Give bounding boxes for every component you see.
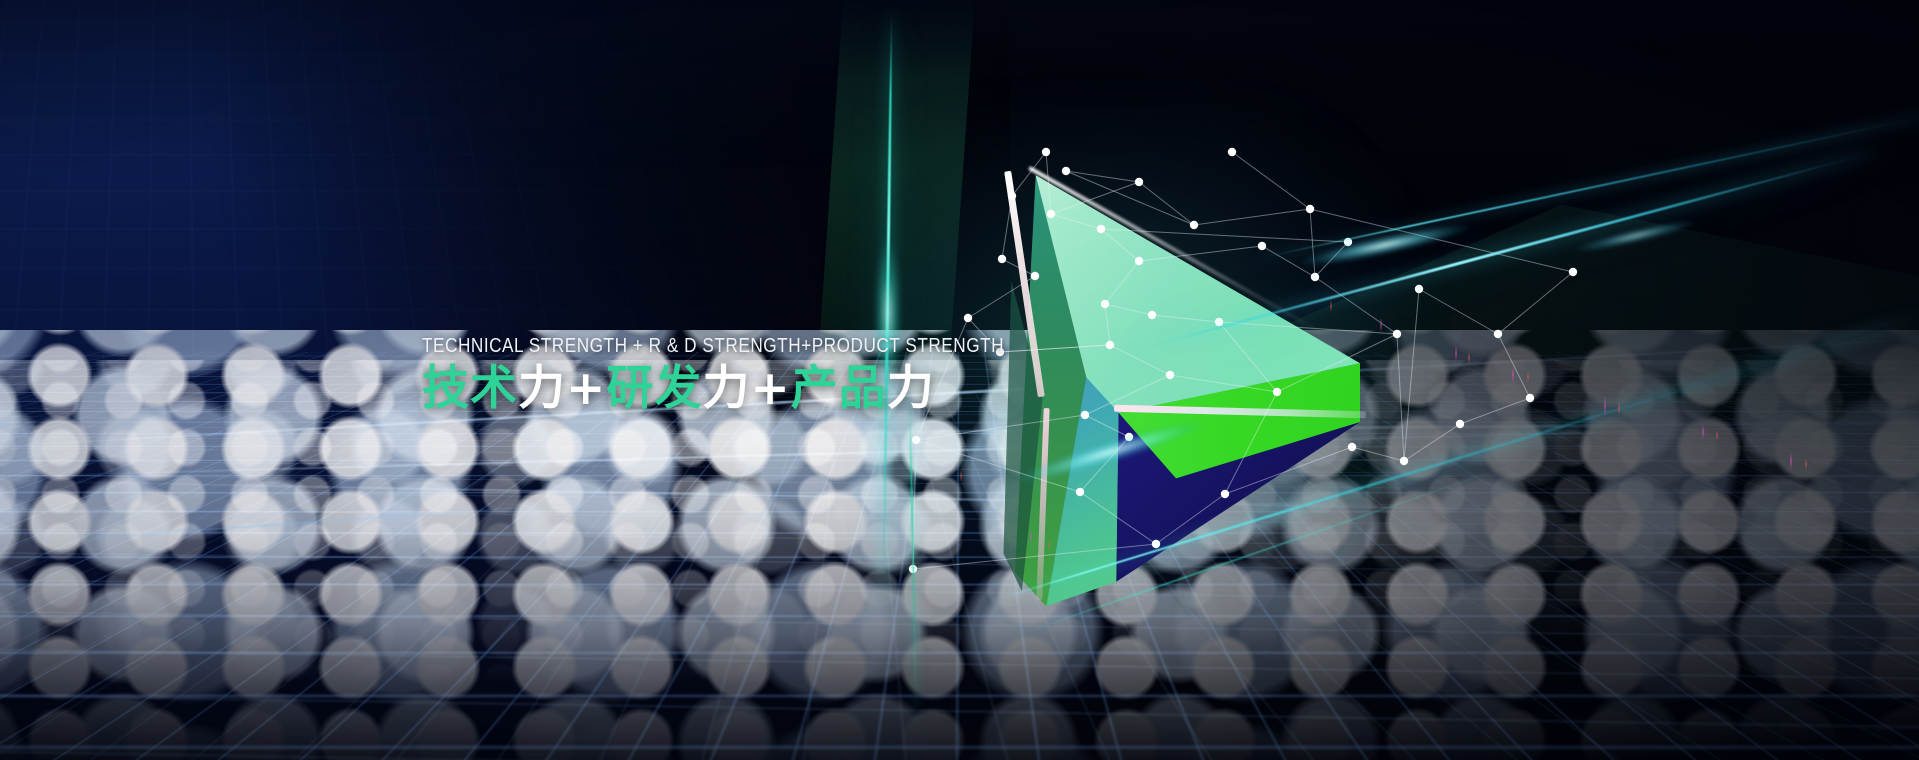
hero-banner: TECHNICAL STRENGTH + R & D STRENGTH+PROD… bbox=[0, 0, 1919, 760]
network-node bbox=[1569, 268, 1577, 276]
headline-segment-5: + bbox=[750, 361, 790, 416]
network-node bbox=[1042, 148, 1050, 156]
network-node bbox=[1135, 257, 1143, 265]
network-node bbox=[1047, 210, 1055, 218]
network-node bbox=[1273, 388, 1281, 396]
headline-segment-7: 力 bbox=[887, 361, 935, 416]
network-node bbox=[1306, 205, 1314, 213]
network-node bbox=[1031, 272, 1039, 280]
chromatic-tick bbox=[1790, 452, 1792, 470]
network-node bbox=[964, 314, 972, 322]
chromatic-tick bbox=[1716, 430, 1718, 441]
network-node bbox=[1135, 178, 1143, 186]
chromatic-tick bbox=[960, 470, 962, 482]
network-node bbox=[998, 255, 1006, 263]
network-node bbox=[912, 436, 920, 444]
network-node bbox=[1348, 443, 1356, 451]
network-node bbox=[1415, 285, 1423, 293]
chromatic-tick bbox=[1380, 318, 1382, 332]
chromatic-tick bbox=[1468, 352, 1470, 364]
network-node bbox=[1148, 311, 1156, 319]
headline-segment-2: + bbox=[566, 361, 606, 416]
chromatic-tick bbox=[1330, 300, 1332, 312]
chromatic-tick bbox=[1048, 540, 1050, 550]
chromatic-tick bbox=[1604, 396, 1606, 416]
network-node bbox=[1062, 167, 1070, 175]
network-node bbox=[1311, 273, 1319, 281]
chromatic-tick bbox=[1805, 458, 1807, 470]
network-node bbox=[1393, 330, 1401, 338]
headline-segment-0: 技术 bbox=[422, 361, 518, 416]
network-node bbox=[1456, 420, 1464, 428]
network-node bbox=[1101, 300, 1109, 308]
chromatic-tick bbox=[1527, 372, 1529, 382]
network-node bbox=[1400, 457, 1408, 465]
chromatic-tick bbox=[1702, 424, 1704, 440]
page-title: 技术力+研发力+产品力 bbox=[422, 365, 1122, 414]
network-node bbox=[1152, 540, 1160, 548]
chromatic-tick bbox=[1618, 402, 1620, 415]
hero-copy: TECHNICAL STRENGTH + R & D STRENGTH+PROD… bbox=[422, 336, 1122, 414]
network-node bbox=[1190, 221, 1198, 229]
network-node bbox=[1166, 371, 1174, 379]
eyebrow-text: TECHNICAL STRENGTH + R & D STRENGTH+PROD… bbox=[422, 336, 1024, 356]
chromatic-tick bbox=[1512, 366, 1514, 384]
network-node bbox=[1258, 242, 1266, 250]
network-node bbox=[1076, 488, 1084, 496]
network-node bbox=[1526, 394, 1534, 402]
network-node bbox=[1494, 330, 1502, 338]
headline-segment-4: 力 bbox=[702, 361, 750, 416]
network-node bbox=[1228, 148, 1236, 156]
network-node bbox=[1097, 225, 1105, 233]
headline-segment-6: 产品 bbox=[791, 361, 887, 416]
headline-segment-1: 力 bbox=[518, 361, 566, 416]
network-node bbox=[1008, 192, 1016, 200]
headline-segment-3: 研发 bbox=[606, 361, 702, 416]
chromatic-tick bbox=[1455, 345, 1457, 361]
chromatic-tick bbox=[1030, 530, 1032, 544]
network-node bbox=[1221, 490, 1229, 498]
